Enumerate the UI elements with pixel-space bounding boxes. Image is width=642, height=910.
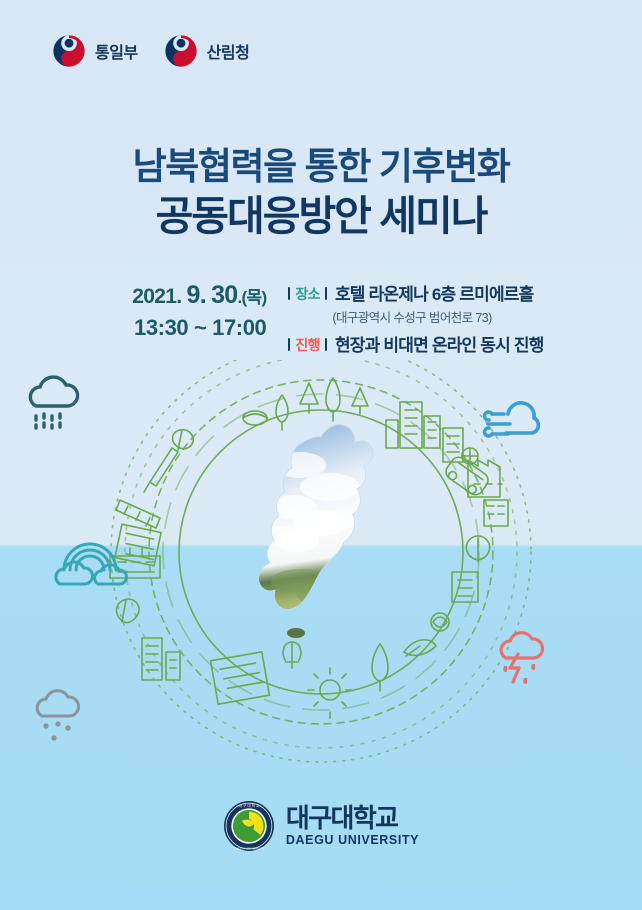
wind-turbine-icons xyxy=(115,430,193,566)
university-name: 대구대학교 DAEGU UNIVERSITY xyxy=(286,805,419,847)
jeju-island xyxy=(287,628,305,638)
rain-cloud-icon xyxy=(30,377,77,428)
event-info: 2021. 9. 30.(목) 13:30 ~ 17:00 장소 호텔 라온제나… xyxy=(0,278,642,356)
mode-value: 현장과 비대면 온라인 동시 진행 xyxy=(335,331,544,356)
event-date: 2021. 9. 30.(목) xyxy=(98,280,266,311)
event-datetime: 2021. 9. 30.(목) 13:30 ~ 17:00 xyxy=(98,278,266,342)
daegu-university-seal-icon: · 대 구 대 학 교 · DAEGU UNIVERSITY xyxy=(223,800,275,852)
place-value: 호텔 라온제나 6층 르미에르홀 xyxy=(335,280,534,305)
title-line-1: 남북협력을 통한 기후변화 xyxy=(0,146,642,188)
date-day: 30 xyxy=(211,281,237,309)
korean-peninsula-map xyxy=(245,415,385,638)
event-time: 13:30 ~ 17:00 xyxy=(98,314,266,343)
venue-address: (대구광역시 수성구 범어천로 73) xyxy=(332,307,543,326)
mode-label: 진행 xyxy=(288,335,327,355)
university-name-en: DAEGU UNIVERSITY xyxy=(286,834,419,847)
ministry-of-unification-logo: 통일부 xyxy=(52,34,138,68)
taegeuk-icon xyxy=(52,34,86,68)
snow-cloud-icon xyxy=(37,691,78,741)
logo-label: 통일부 xyxy=(95,39,138,63)
svg-text:DAEGU UNIVERSITY: DAEGU UNIVERSITY xyxy=(234,846,265,850)
svg-text:· 대 구 대 학 교 ·: · 대 구 대 학 교 · xyxy=(236,803,261,808)
recycle-leaf-icons xyxy=(372,536,490,691)
date-weekday: .(목) xyxy=(238,288,267,307)
place-label: 장소 xyxy=(288,284,327,304)
poster-root: 통일부 산림청 남북협력을 통한 기후변화 공동대응방안 세미나 2021. 9… xyxy=(0,0,642,910)
government-logos: 통일부 산림청 xyxy=(52,34,249,68)
event-location: 장소 호텔 라온제나 6층 르미에르홀 (대구광역시 수성구 범어천로 73) … xyxy=(288,278,543,356)
city-building-icons xyxy=(386,402,463,462)
date-month: 9. xyxy=(187,281,206,309)
university-name-ko: 대구대학교 xyxy=(286,805,419,831)
mode-row: 진행 현장과 비대면 온라인 동시 진행 xyxy=(288,331,543,356)
poster-title: 남북협력을 통한 기후변화 공동대응방안 세미나 xyxy=(0,146,642,240)
university-footer: · 대 구 대 학 교 · DAEGU UNIVERSITY 대구대학교 DAE… xyxy=(0,800,642,852)
thunderstorm-icon xyxy=(501,633,542,684)
korea-forest-service-logo: 산림청 xyxy=(164,34,250,68)
logo-label: 산림청 xyxy=(207,39,250,63)
date-year: 2021. xyxy=(132,285,181,308)
title-line-2: 공동대응방안 세미나 xyxy=(0,192,642,240)
illustration-svg xyxy=(0,360,642,780)
solar-sun-icons xyxy=(211,642,352,718)
taegeuk-icon xyxy=(164,34,198,68)
central-illustration xyxy=(0,360,642,780)
place-row: 장소 호텔 라온제나 6층 르미에르홀 xyxy=(288,280,543,305)
